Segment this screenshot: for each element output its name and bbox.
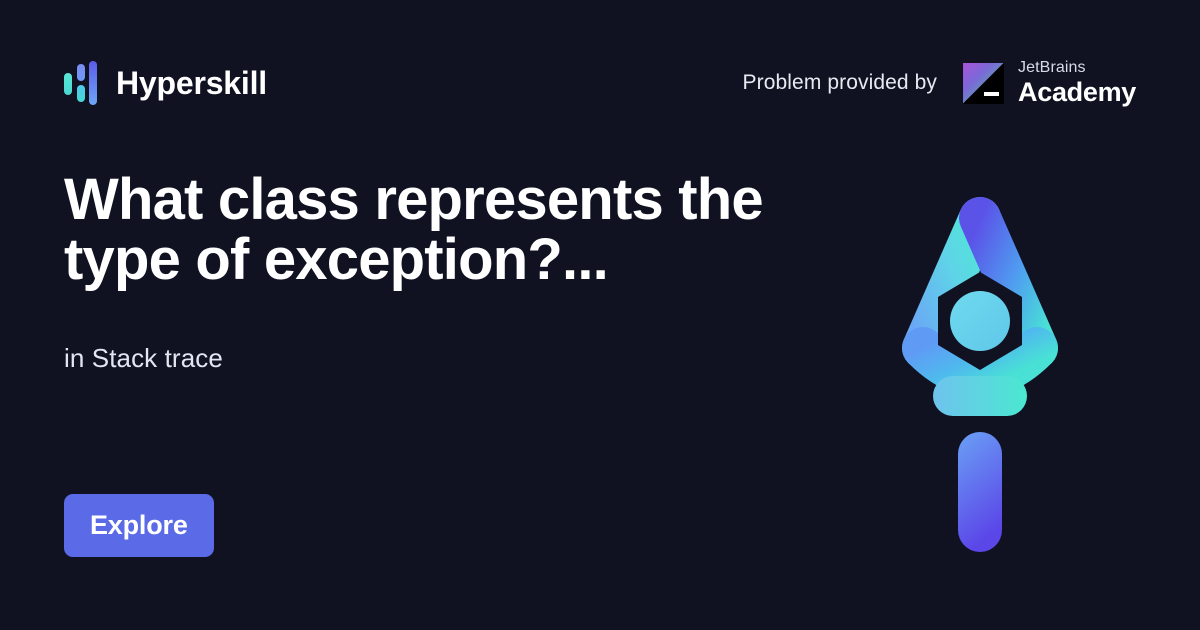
emblem-inner-circle	[950, 291, 1010, 351]
provider-label: Problem provided by	[743, 71, 938, 95]
jetbrains-academy-logo[interactable]: JetBrains Academy	[963, 60, 1136, 106]
academy-name: Academy	[1018, 79, 1136, 106]
explore-button[interactable]: Explore	[64, 494, 214, 557]
jetbrains-gradient-triangle	[963, 63, 1004, 104]
hyperskill-bar-mid-bottom	[77, 85, 85, 102]
hyperskill-bar-left	[64, 73, 72, 95]
hyperskill-brand[interactable]: Hyperskill	[64, 61, 267, 105]
emblem-horizontal-pill	[933, 376, 1027, 416]
emblem-vertical-pill	[958, 432, 1002, 552]
card-header: Hyperskill Problem provided by JetBrains…	[64, 52, 1136, 114]
page-title: What class represents the type of except…	[64, 170, 804, 291]
topic-subtitle: in Stack trace	[64, 343, 854, 374]
hyperskill-bar-mid-top	[77, 64, 85, 81]
jetbrains-dash-mark	[984, 92, 999, 96]
jetbrains-name: JetBrains	[1018, 60, 1136, 76]
provider-block: Problem provided by JetBrains Academy	[743, 60, 1136, 106]
hyperskill-wordmark: Hyperskill	[116, 67, 267, 99]
jetbrains-academy-text: JetBrains Academy	[1018, 60, 1136, 106]
hyperskill-emblem-icon	[885, 180, 1105, 560]
share-card: Hyperskill Problem provided by JetBrains…	[0, 0, 1200, 630]
jetbrains-square-icon	[963, 63, 1004, 104]
hyperskill-bars-icon	[64, 61, 98, 105]
hyperskill-bar-right	[89, 61, 97, 105]
card-main: What class represents the type of except…	[64, 170, 854, 374]
